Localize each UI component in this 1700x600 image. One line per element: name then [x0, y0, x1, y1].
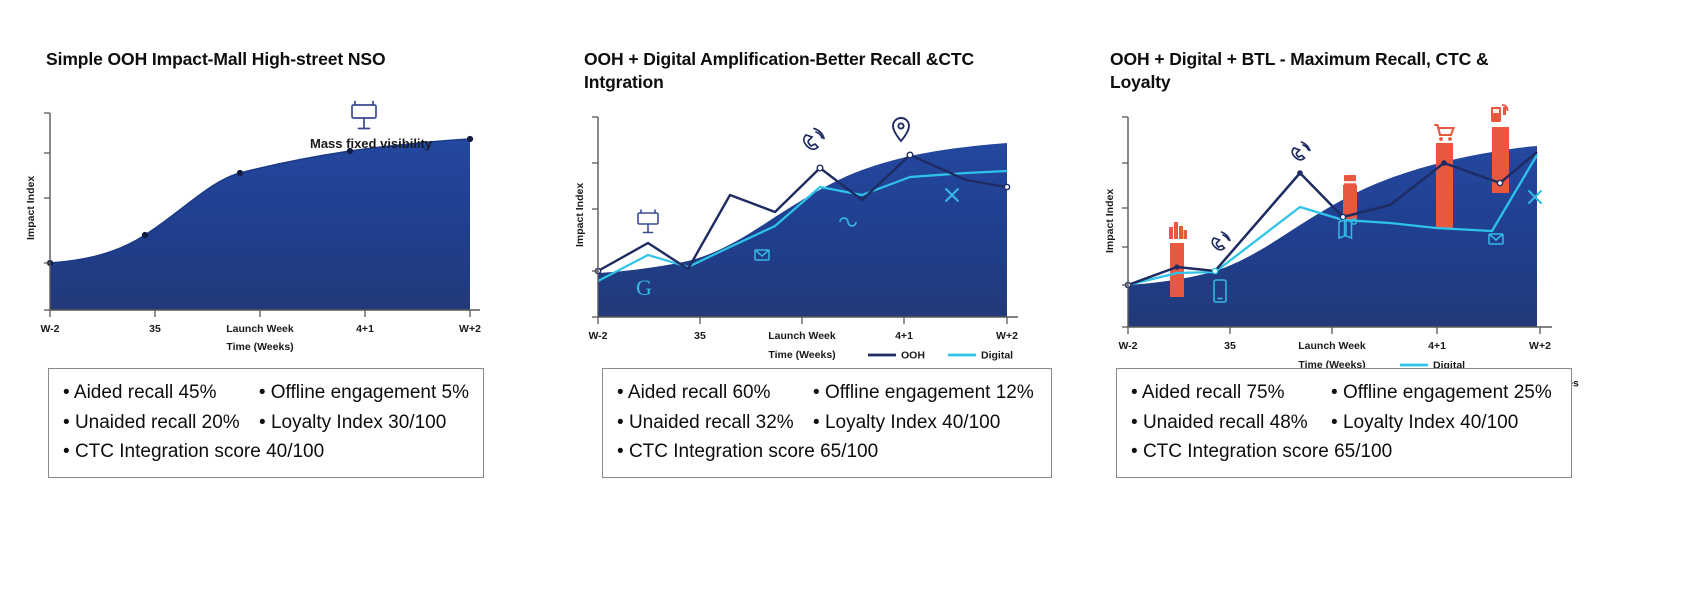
kpi-row: CTC Integration score 40/100: [63, 437, 469, 467]
kpi-box: Aided recall 75% Offline engagement 25% …: [1116, 368, 1572, 478]
chart-simple-ooh: Impact Index W-2 35 Launch Week 4+1 W+2 …: [20, 95, 520, 355]
billboard-icon: [352, 102, 376, 129]
x-tick-label: Launch Week: [768, 330, 836, 342]
kpi-box: Aided recall 45% Offline engagement 5% U…: [48, 368, 484, 478]
x-axis-ticks: [1128, 327, 1540, 334]
y-axis-ticks: [592, 117, 598, 317]
annotation-label: Mass fixed visibility: [310, 136, 433, 151]
kpi-row: Aided recall 60% Offline engagement 12%: [617, 378, 1037, 408]
page-title: OOH + Digital + BTL - Maximum Recall, CT…: [1110, 48, 1550, 94]
location-pin-icon: [893, 118, 909, 141]
kpi-aided-recall: Aided recall 60%: [617, 378, 813, 408]
kpi-unaided-recall: Unaided recall 48%: [1131, 408, 1331, 438]
legend-label-ooh: OOH: [901, 350, 925, 362]
y-axis-ticks: [44, 113, 50, 310]
gift-icon: [1343, 175, 1357, 187]
kpi-ctc-integration: CTC Integration score 65/100: [1131, 437, 1392, 467]
x-tick-label: W-2: [588, 330, 607, 342]
x-tick-label: 35: [149, 323, 161, 335]
kpi-offline-engagement: Offline engagement 25%: [1331, 378, 1552, 408]
phone-call-icon: [1212, 232, 1230, 250]
kpi-offline-engagement: Offline engagement 12%: [813, 378, 1034, 408]
x-tick-label: W+2: [459, 323, 481, 335]
kpi-row: Unaided recall 48% Loyalty Index 40/100: [1131, 408, 1557, 438]
x-axis-title: Time (Weeks): [226, 341, 293, 353]
y-axis-title: Impact Index: [574, 183, 586, 247]
x-tick-label: Launch Week: [226, 323, 294, 335]
y-axis-ticks: [1122, 117, 1128, 327]
chart-ooh-digital-btl: Impact Index W-2 35 Launch Week 4+1 W+2 …: [1100, 95, 1580, 395]
x-axis-ticks: [50, 310, 470, 317]
page-title: Simple OOH Impact-Mall High-street NSO: [46, 48, 476, 71]
chart-panel-ooh-digital: OOH + Digital Amplification-Better Recal…: [560, 0, 1100, 600]
btl-bar: [1436, 143, 1453, 228]
kpi-loyalty-index: Loyalty Index 30/100: [259, 408, 446, 438]
y-axis-title: Impact Index: [25, 176, 37, 240]
kpi-row: CTC Integration score 65/100: [1131, 437, 1557, 467]
chart-ooh-digital: Impact Index W-2 35 Launch Week 4+1 W+2 …: [570, 95, 1050, 380]
kpi-aided-recall: Aided recall 45%: [63, 378, 259, 408]
kpi-unaided-recall: Unaided recall 32%: [617, 408, 813, 438]
x-tick-label: 4+1: [356, 323, 374, 335]
x-tick-label: W-2: [1118, 340, 1137, 352]
kpi-loyalty-index: Loyalty Index 40/100: [813, 408, 1000, 438]
area-impact-base: [598, 143, 1007, 317]
kpi-row: Aided recall 45% Offline engagement 5%: [63, 378, 469, 408]
kpi-row: Aided recall 75% Offline engagement 25%: [1131, 378, 1557, 408]
svg-text:G: G: [636, 275, 652, 300]
chart-panel-simple-ooh: Simple OOH Impact-Mall High-street NSO: [0, 0, 550, 600]
billboard-icon: [638, 210, 658, 233]
x-tick-label: W-2: [40, 323, 59, 335]
x-tick-label: Launch Week: [1298, 340, 1366, 352]
x-tick-label: 4+1: [895, 330, 913, 342]
kpi-box: Aided recall 60% Offline engagement 12% …: [602, 368, 1052, 478]
chart-legend: OOH Digital: [868, 350, 1013, 362]
slide-canvas: Simple OOH Impact-Mall High-street NSO: [0, 0, 1700, 600]
kpi-unaided-recall: Unaided recall 20%: [63, 408, 259, 438]
phone-call-icon: [804, 129, 824, 150]
x-tick-label: W+2: [996, 330, 1018, 342]
legend-label-digital: Digital: [981, 350, 1013, 362]
x-tick-label: 4+1: [1428, 340, 1446, 352]
y-axis-title: Impact Index: [1104, 189, 1116, 253]
phone-call-icon: [1292, 142, 1310, 160]
x-tick-label: W+2: [1529, 340, 1551, 352]
kpi-row: Unaided recall 20% Loyalty Index 30/100: [63, 408, 469, 438]
area-ooh-impact: [50, 139, 470, 310]
kpi-aided-recall: Aided recall 75%: [1131, 378, 1331, 408]
kpi-offline-engagement: Offline engagement 5%: [259, 378, 469, 408]
fuel-pump-icon: [1491, 105, 1508, 122]
google-g-icon: G: [636, 275, 652, 300]
page-title: OOH + Digital Amplification-Better Recal…: [584, 48, 1014, 94]
kpi-ctc-integration: CTC Integration score 40/100: [63, 437, 324, 467]
x-axis-title: Time (Weeks): [768, 349, 835, 361]
chart-panel-ooh-digital-btl: OOH + Digital + BTL - Maximum Recall, CT…: [1090, 0, 1700, 600]
kpi-loyalty-index: Loyalty Index 40/100: [1331, 408, 1518, 438]
kpi-row: CTC Integration score 65/100: [617, 437, 1037, 467]
kpi-ctc-integration: CTC Integration score 65/100: [617, 437, 878, 467]
x-tick-label: 35: [694, 330, 706, 342]
shopping-cart-icon: [1435, 125, 1454, 141]
x-axis-ticks: [598, 317, 1007, 324]
x-tick-label: 35: [1224, 340, 1236, 352]
city-buildings-icon: [1169, 222, 1187, 239]
kpi-row: Unaided recall 32% Loyalty Index 40/100: [617, 408, 1037, 438]
